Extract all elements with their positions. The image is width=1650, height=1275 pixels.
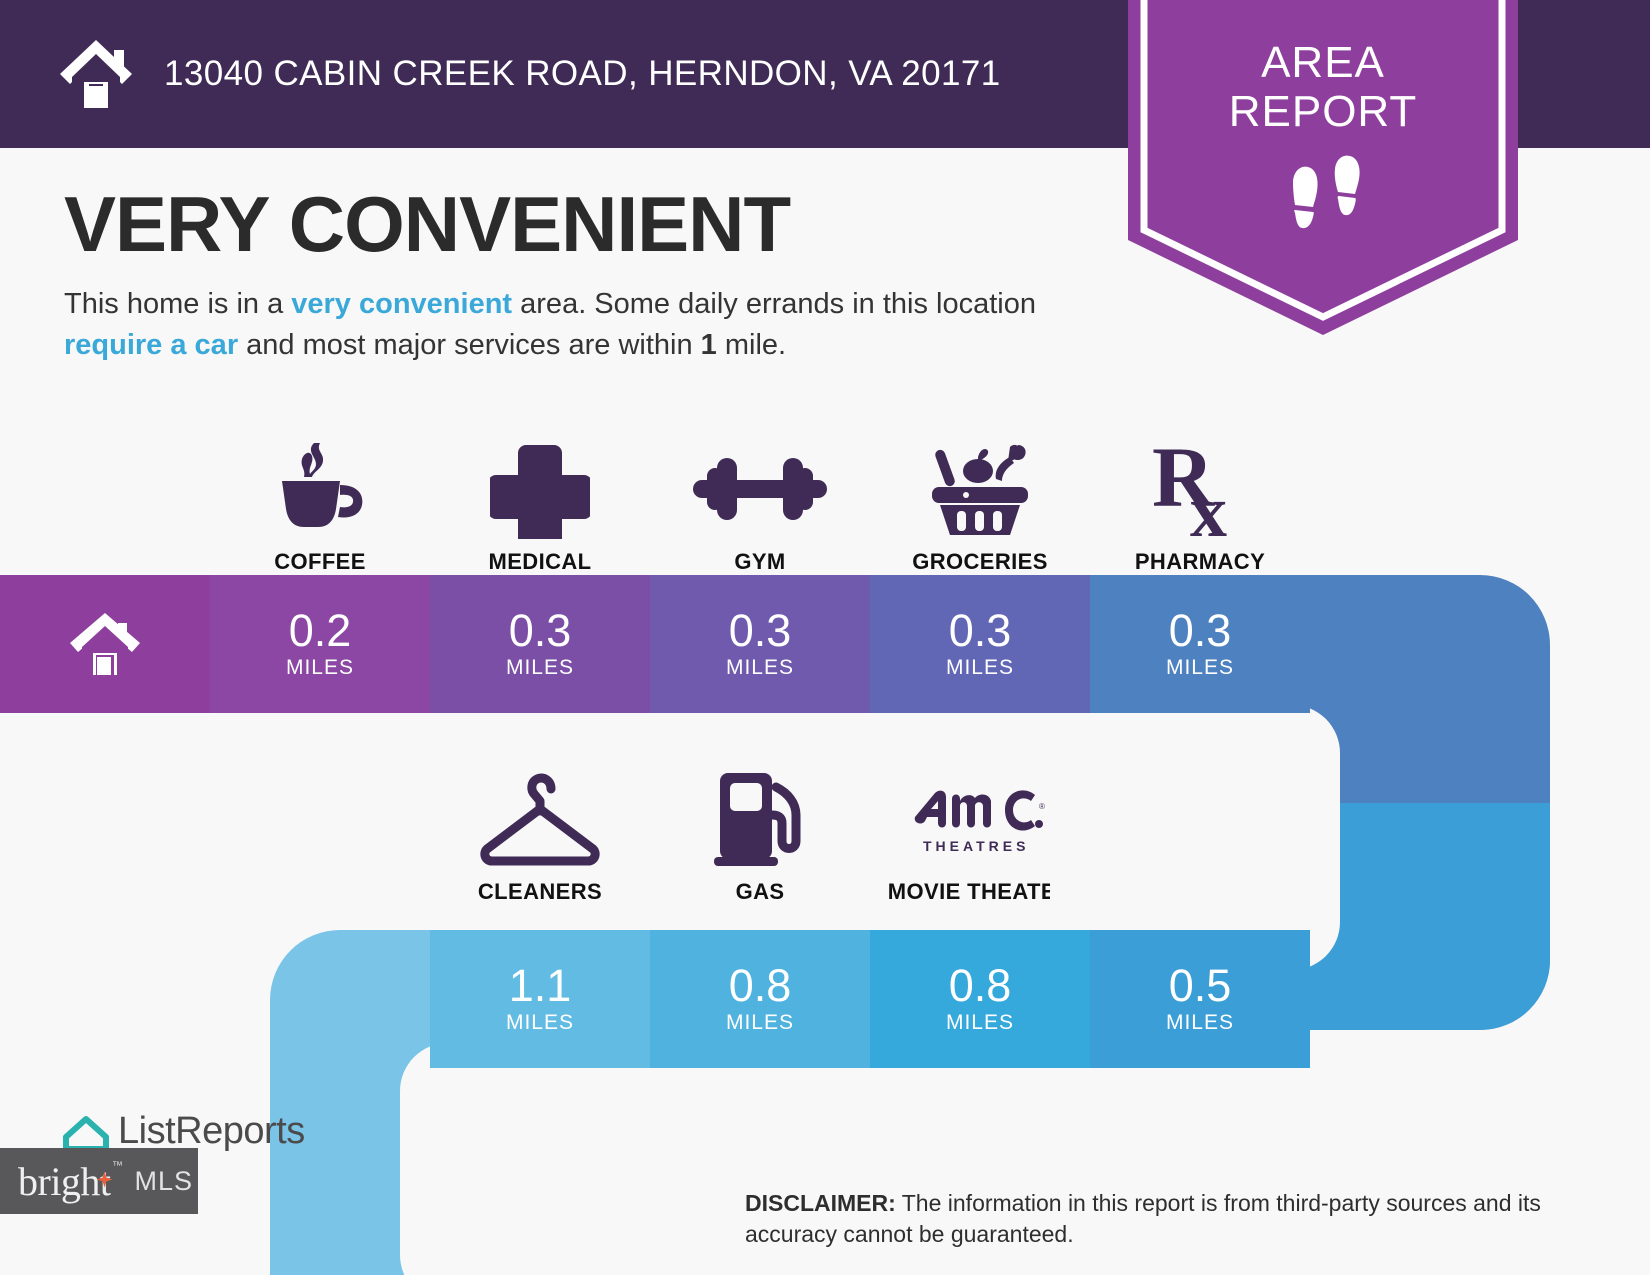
bright-mls-badge: bright ™ MLS <box>0 1148 198 1214</box>
distance-value: 0.5 <box>1169 963 1232 1009</box>
badge-title: AREA REPORT <box>1128 38 1518 136</box>
distance-cell: 1.1 MILES <box>430 930 650 1068</box>
amenity-coffee: COFFEE <box>210 425 430 575</box>
distance-unit: MILES <box>726 656 794 680</box>
distance-value: 0.3 <box>729 608 792 654</box>
amenity-label: GROCERIES <box>912 549 1048 575</box>
distance-track: 0.2 MILES 0.3 MILES 0.3 MILES 0.3 MILES … <box>0 575 1650 1275</box>
grocery-basket-icon <box>926 436 1034 541</box>
distance-cell: 0.3 MILES <box>870 575 1090 713</box>
distance-cell: 0.8 MILES <box>870 930 1090 1068</box>
mls-text: MLS <box>135 1166 194 1197</box>
amenity-gym: GYM <box>650 425 870 575</box>
distance-value: 0.3 <box>509 608 572 654</box>
distance-value: 0.8 <box>729 963 792 1009</box>
distance-value: 0.2 <box>289 608 352 654</box>
svg-text:x: x <box>1190 471 1227 542</box>
distance-unit: MILES <box>506 1011 574 1035</box>
badge-line-2: REPORT <box>1128 87 1518 136</box>
distance-unit: MILES <box>286 656 354 680</box>
medical-cross-icon <box>490 436 590 541</box>
hero-section: VERY CONVENIENT This home is in a very c… <box>64 180 1124 366</box>
desc-part-4: mile. <box>717 329 786 361</box>
amenity-label: COFFEE <box>274 549 366 575</box>
distance-cell: 0.8 MILES <box>650 930 870 1068</box>
house-outline-icon <box>62 1111 110 1153</box>
distance-row-2: 1.1 MILES 0.8 MILES 0.8 MILES 0.5 MILES <box>430 930 1310 1068</box>
badge-line-1: AREA <box>1128 38 1518 87</box>
desc-part-1: This home is in a <box>64 288 291 320</box>
bright-text: bright <box>18 1159 111 1204</box>
distance-value: 1.1 <box>509 963 572 1009</box>
desc-highlight-miles: 1 <box>701 329 717 361</box>
distance-cell: 0.3 MILES <box>1090 575 1310 713</box>
disclaimer: DISCLAIMER: The information in this repo… <box>745 1188 1575 1250</box>
house-icon <box>68 611 142 677</box>
listreports-name: ListReports <box>118 1110 305 1153</box>
bright-wordmark: bright ™ <box>18 1158 111 1205</box>
desc-part-2: area. Some daily errands in this locatio… <box>512 288 1036 320</box>
amenity-label: MEDICAL <box>488 549 591 575</box>
trademark-mark: ™ <box>112 1160 123 1172</box>
area-report-page: 13040 CABIN CREEK ROAD, HERNDON, VA 2017… <box>0 0 1650 1275</box>
distance-unit: MILES <box>1166 1011 1234 1035</box>
distance-unit: MILES <box>1166 656 1234 680</box>
footprints-icon <box>1283 155 1373 240</box>
distance-cell: 0.5 MILES <box>1090 930 1310 1068</box>
distance-value: 0.8 <box>949 963 1012 1009</box>
distance-value: 0.3 <box>1169 608 1232 654</box>
distance-cell: 0.3 MILES <box>430 575 650 713</box>
distance-row-1: 0.2 MILES 0.3 MILES 0.3 MILES 0.3 MILES … <box>0 575 1310 713</box>
distance-cell: 0.3 MILES <box>650 575 870 713</box>
dumbbell-icon <box>693 436 827 541</box>
distance-unit: MILES <box>506 656 574 680</box>
amenity-pharmacy: R x PHARMACY <box>1090 425 1310 575</box>
desc-highlight-convenient: very convenient <box>291 288 512 320</box>
house-icon <box>56 34 136 114</box>
property-address: 13040 CABIN CREEK ROAD, HERNDON, VA 2017… <box>164 54 1001 94</box>
disclaimer-label: DISCLAIMER: <box>745 1190 896 1216</box>
listreports-logo: ListReports <box>62 1110 305 1153</box>
distance-unit: MILES <box>726 1011 794 1035</box>
coffee-cup-icon <box>268 436 372 541</box>
amenity-label: PHARMACY <box>1135 549 1265 575</box>
page-title: VERY CONVENIENT <box>64 180 1124 268</box>
desc-part-3: and most major services are within <box>238 329 701 361</box>
desc-highlight-car: require a car <box>64 329 238 361</box>
distance-value: 0.3 <box>949 608 1012 654</box>
distance-cell: 0.2 MILES <box>210 575 430 713</box>
amenity-icon-row-1: COFFEE MEDICAL GYM <box>210 425 1310 575</box>
home-marker-cell <box>0 575 210 713</box>
hero-description: This home is in a very convenient area. … <box>64 284 1124 366</box>
rx-pharmacy-icon: R x <box>1152 436 1248 541</box>
amenity-groceries: GROCERIES <box>870 425 1090 575</box>
amenity-label: GYM <box>734 549 785 575</box>
area-report-badge: AREA REPORT <box>1128 0 1518 335</box>
distance-unit: MILES <box>946 656 1014 680</box>
distance-unit: MILES <box>946 1011 1014 1035</box>
amenity-medical: MEDICAL <box>430 425 650 575</box>
